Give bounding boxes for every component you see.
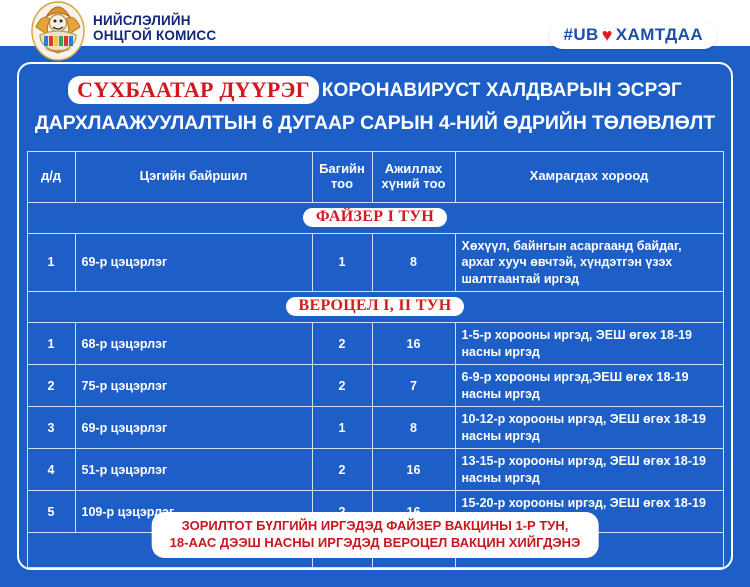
cell-staff: 16	[372, 323, 455, 365]
cell-index: 3	[27, 407, 75, 449]
cell-teams: 2	[312, 365, 372, 407]
title-line-2: ДАРХЛААЖУУЛАЛТЫН 6 ДУГААР САРЫН 4-НИЙ ӨД…	[29, 112, 721, 135]
poster-root: НИЙСЛЭЛИЙН ОНЦГОЙ КОМИСС #UB ♥ ХАМТДАА С…	[0, 0, 750, 587]
table-row: 2 75-р цэцэрлэг 2 7 6-9-р хорооны иргэд,…	[27, 365, 723, 407]
cell-teams: 2	[312, 323, 372, 365]
section-label-pfizer: ФАЙЗЕР I ТУН	[303, 208, 447, 227]
footer-line-1: ЗОРИЛТОТ БҮЛГИЙН ИРГЭДЭД ФАЙЗЕР ВАКЦИНЫ …	[170, 517, 581, 535]
campaign-hashtag-badge: #UB ♥ ХАМТДАА	[549, 22, 717, 49]
cell-staff: 16	[372, 449, 455, 491]
cell-areas: 10-12-р хорооны иргэд, ЭЕШ өгөх 18-19 на…	[455, 407, 723, 449]
cell-staff: 8	[372, 407, 455, 449]
cell-location: 68-р цэцэрлэг	[75, 323, 312, 365]
section-header-cell: ФАЙЗЕР I ТУН	[27, 202, 723, 233]
page-title: СҮХБААТАР ДҮҮРЭГКОРОНАВИРУСТ ХАЛДВАРЫН Э…	[19, 64, 731, 140]
table-row: 3 69-р цэцэрлэг 1 8 10-12-р хорооны иргэ…	[27, 407, 723, 449]
hashtag-prefix: #UB	[563, 25, 598, 45]
cell-areas: 6-9-р хорооны иргэд,ЭЕШ өгөх 18-19 насны…	[455, 365, 723, 407]
footer-line-2: 18-ААС ДЭЭШ НАСНЫ ИРГЭДЭД ВЕРОЦЕЛ ВАКЦИН…	[170, 534, 581, 552]
cell-areas: 13-15-р хорооны иргэд, ЭЕШ өгөх 18-19 на…	[455, 449, 723, 491]
cell-location: 69-р цэцэрлэг	[75, 407, 312, 449]
column-header-index: д/д	[27, 151, 75, 202]
cell-index: 4	[27, 449, 75, 491]
column-header-areas: Хамрагдах хороод	[455, 151, 723, 202]
column-header-staff: Ажиллах хүний тоо	[372, 151, 455, 202]
organization-name: НИЙСЛЭЛИЙН ОНЦГОЙ КОМИСС	[93, 13, 216, 49]
cell-location: 69-р цэцэрлэг	[75, 233, 312, 292]
table-row: 4 51-р цэцэрлэг 2 16 13-15-р хорооны ирг…	[27, 449, 723, 491]
teams-header-bottom: тоо	[319, 177, 366, 192]
section-label-verocell: ВЕРОЦЕЛ I, II ТУН	[286, 297, 465, 316]
logo-line-1: НИЙСЛЭЛИЙН	[93, 13, 216, 28]
cell-index: 2	[27, 365, 75, 407]
heart-icon: ♥	[600, 26, 615, 44]
column-header-location: Цэгийн байршил	[75, 151, 312, 202]
staff-header-top: Ажиллах	[379, 162, 449, 177]
table-row: 1 68-р цэцэрлэг 2 16 1-5-р хорооны иргэд…	[27, 323, 723, 365]
title-line-1-rest: КОРОНАВИРУСТ ХАЛДВАРЫН ЭСРЭГ	[322, 80, 682, 101]
cell-teams: 1	[312, 407, 372, 449]
teams-header-top: Багийн	[319, 162, 366, 177]
organization-logo: НИЙСЛЭЛИЙН ОНЦГОЙ КОМИСС	[30, 1, 216, 61]
cell-teams: 1	[312, 233, 372, 292]
vaccination-plan-table: д/д Цэгийн байршил Багийн тоо Ажиллах хү…	[27, 151, 724, 569]
title-line-1: СҮХБААТАР ДҮҮРЭГКОРОНАВИРУСТ ХАЛДВАРЫН Э…	[29, 77, 721, 105]
district-name-chip: СҮХБААТАР ДҮҮРЭГ	[68, 76, 319, 104]
cell-staff: 7	[372, 365, 455, 407]
section-header-row: ВЕРОЦЕЛ I, II ТУН	[27, 292, 723, 323]
column-header-teams: Багийн тоо	[312, 151, 372, 202]
section-header-cell: ВЕРОЦЕЛ I, II ТУН	[27, 292, 723, 323]
cell-areas: Хөхүүл, байнгын асаргаанд байдаг, архаг …	[455, 233, 723, 292]
table-row: 1 69-р цэцэрлэг 1 8 Хөхүүл, байнгын асар…	[27, 233, 723, 292]
hashtag-suffix: ХАМТДАА	[616, 25, 703, 45]
cell-index: 1	[27, 323, 75, 365]
staff-header-bottom: хүний тоо	[379, 177, 449, 192]
section-header-row: ФАЙЗЕР I ТУН	[27, 202, 723, 233]
footer-note: ЗОРИЛТОТ БҮЛГИЙН ИРГЭДЭД ФАЙЗЕР ВАКЦИНЫ …	[152, 512, 599, 558]
logo-line-2: ОНЦГОЙ КОМИСС	[93, 28, 216, 43]
cell-teams: 2	[312, 449, 372, 491]
cell-index: 1	[27, 233, 75, 292]
cell-location: 51-р цэцэрлэг	[75, 449, 312, 491]
cell-areas: 1-5-р хорооны иргэд, ЭЕШ өгөх 18-19 насн…	[455, 323, 723, 365]
cell-location: 75-р цэцэрлэг	[75, 365, 312, 407]
cell-staff: 8	[372, 233, 455, 292]
table-header-row: д/д Цэгийн байршил Багийн тоо Ажиллах хү…	[27, 151, 723, 202]
cell-index: 5	[27, 491, 75, 533]
main-frame: СҮХБААТАР ДҮҮРЭГКОРОНАВИРУСТ ХАЛДВАРЫН Э…	[17, 62, 733, 570]
mongolia-state-emblem-icon	[30, 1, 86, 61]
